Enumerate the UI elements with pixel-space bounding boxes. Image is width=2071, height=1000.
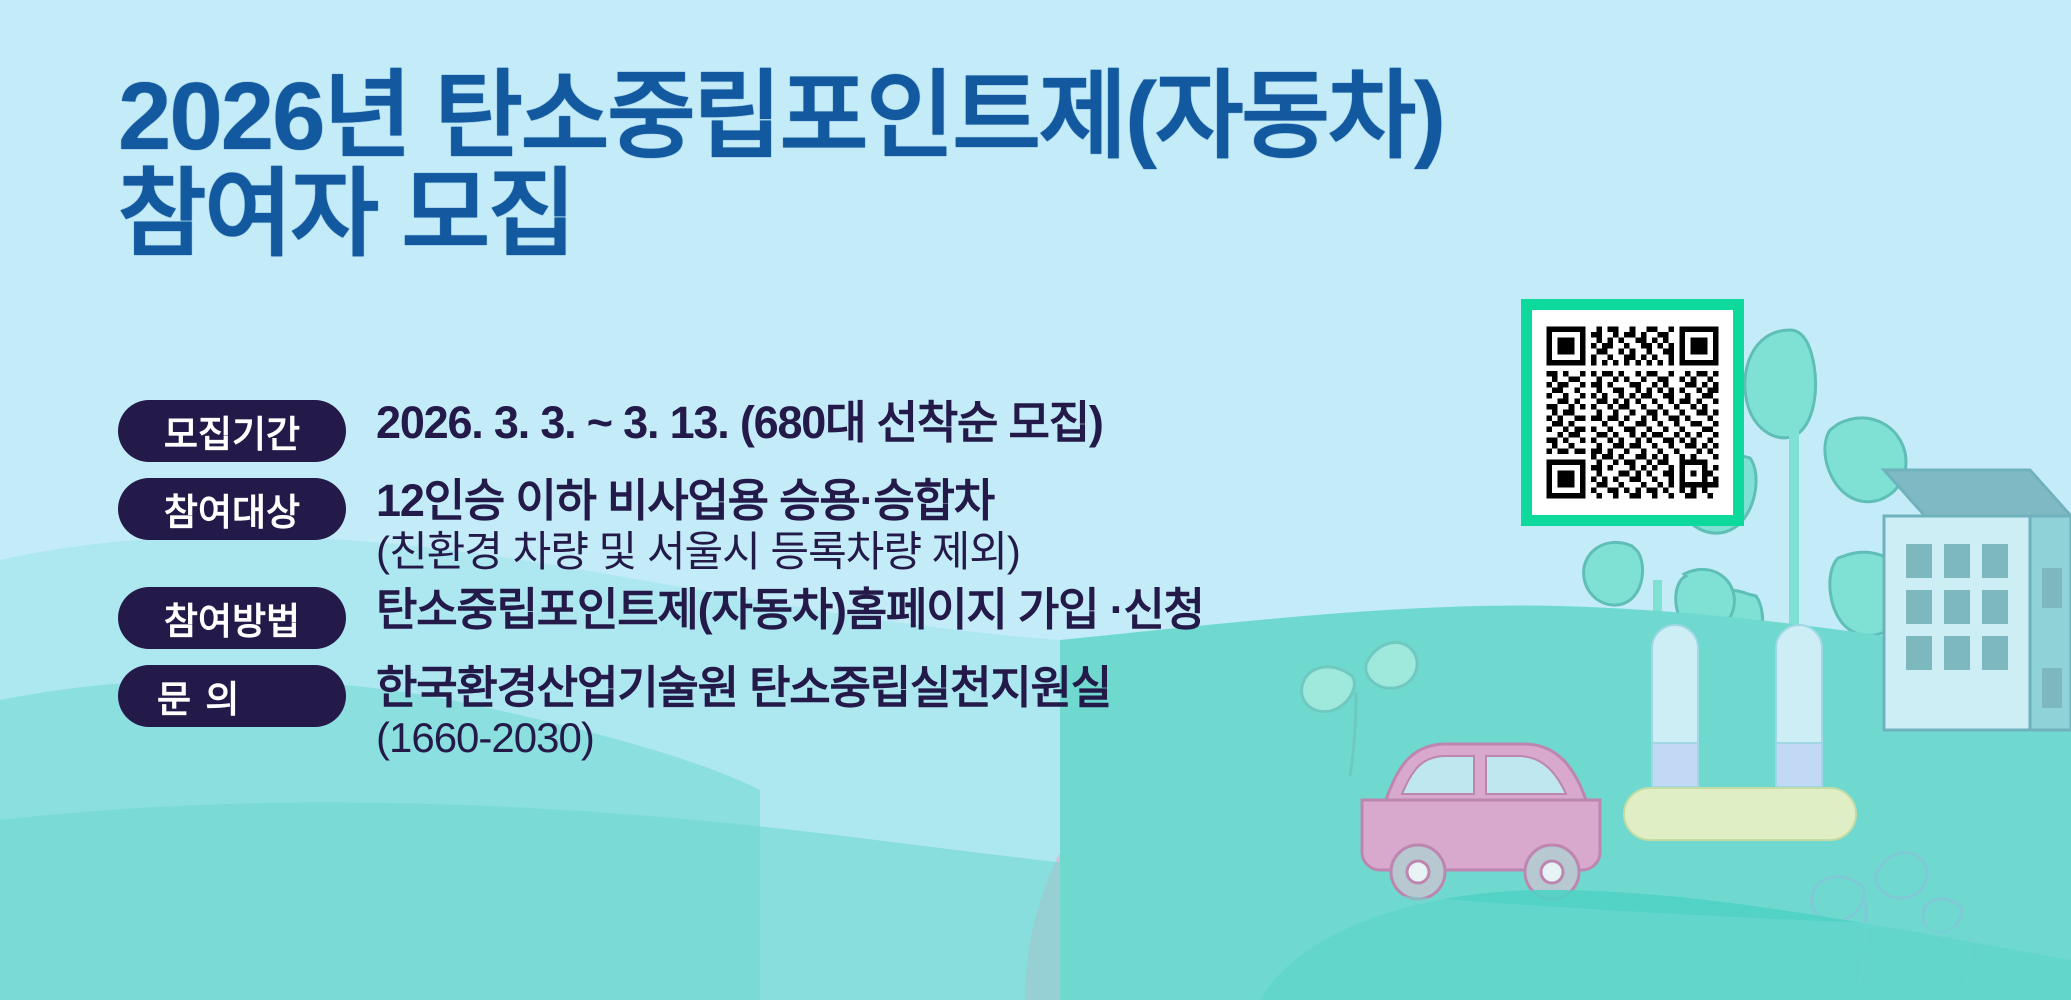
- info-row-eligibility: 참여대상 12인승 이하 비사업용 승용·승합차 (친환경 차량 및 서울시 등…: [118, 476, 1538, 575]
- badge-inquiry: 문 의: [118, 665, 346, 727]
- badge-recruitment-period: 모집기간: [118, 400, 346, 462]
- badge-how-to-apply: 참여방법: [118, 587, 346, 649]
- info-row-recruitment-period: 모집기간 2026. 3. 3. ~ 3. 13. (680대 선착순 모집): [118, 398, 1538, 462]
- badge-inquiry-char-1: 문: [157, 669, 193, 723]
- info-values: 12인승 이하 비사업용 승용·승합차 (친환경 차량 및 서울시 등록차량 제…: [376, 476, 1020, 575]
- eligibility-note: (친환경 차량 및 서울시 등록차량 제외): [376, 528, 1020, 575]
- info-values: 한국환경산업기술원 탄소중립실천지원실 (1660-2030): [376, 663, 1111, 762]
- inquiry-value: 한국환경산업기술원 탄소중립실천지원실: [376, 663, 1111, 713]
- poster-title-line1: 2026년 탄소중립포인트제(자동차): [118, 68, 1444, 166]
- poster-title-line2: 참여자 모집: [118, 166, 1444, 264]
- qr-code[interactable]: [1521, 299, 1744, 526]
- info-row-inquiry: 문 의 한국환경산업기술원 탄소중립실천지원실 (1660-2030): [118, 663, 1538, 762]
- info-row-how-to-apply: 참여방법 탄소중립포인트제(자동차)홈페이지 가입 ·신청: [118, 585, 1538, 649]
- eligibility-value: 12인승 이하 비사업용 승용·승합차: [376, 476, 1020, 526]
- qr-code-matrix: [1541, 319, 1724, 506]
- info-values: 탄소중립포인트제(자동차)홈페이지 가입 ·신청: [376, 585, 1204, 635]
- how-to-apply-value: 탄소중립포인트제(자동차)홈페이지 가입 ·신청: [376, 585, 1204, 635]
- qr-code-inner: [1532, 310, 1733, 515]
- badge-eligibility: 참여대상: [118, 478, 346, 540]
- poster-title: 2026년 탄소중립포인트제(자동차) 참여자 모집: [118, 68, 1444, 264]
- inquiry-phone: (1660-2030): [376, 714, 1111, 761]
- recruitment-period-value: 2026. 3. 3. ~ 3. 13. (680대 선착순 모집): [376, 398, 1103, 448]
- badge-inquiry-char-2: 의: [205, 669, 241, 723]
- info-list: 모집기간 2026. 3. 3. ~ 3. 13. (680대 선착순 모집) …: [118, 398, 1538, 775]
- info-values: 2026. 3. 3. ~ 3. 13. (680대 선착순 모집): [376, 398, 1103, 448]
- badge-inquiry-inner: 문 의: [157, 669, 307, 723]
